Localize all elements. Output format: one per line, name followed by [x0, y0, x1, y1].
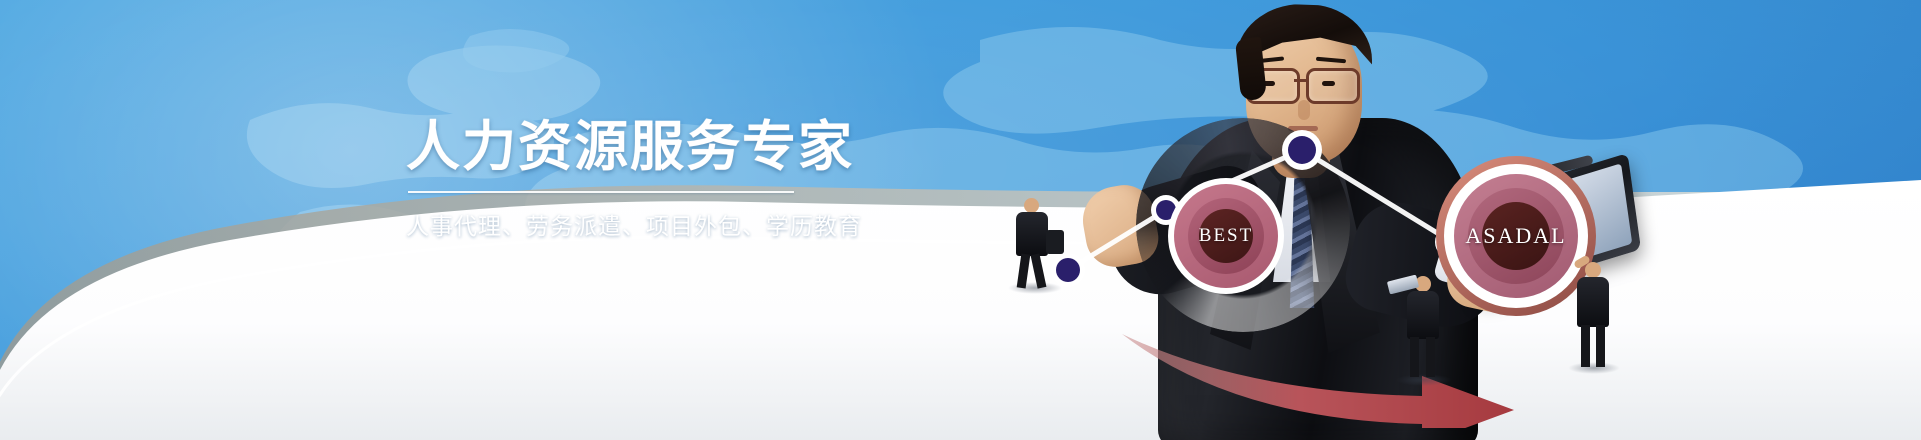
figure-leg-left: [1410, 337, 1419, 377]
mini-figure-presenter: [1396, 276, 1452, 386]
figure-leg-right: [1426, 337, 1435, 377]
figure-body: [1407, 291, 1439, 339]
page-subtitle: 人事代理、劳务派遣、项目外包、学历教育: [406, 207, 806, 241]
glasses-bridge: [1294, 79, 1308, 82]
figure-shadow: [1396, 374, 1452, 386]
eye-right: [1322, 81, 1335, 86]
figure-head: [1585, 262, 1601, 278]
hero-banner: 人力资源服务专家 人事代理、劳务派遣、项目外包、学历教育: [0, 0, 1921, 440]
page-title: 人力资源服务专家: [406, 118, 806, 175]
figure-body: [1577, 277, 1609, 327]
mini-figure-walker: [1006, 196, 1064, 292]
mini-figure-watcher: [1568, 262, 1620, 374]
copy-block: 人力资源服务专家 人事代理、劳务派遣、项目外包、学历教育: [406, 118, 806, 241]
briefcase-icon: [1046, 230, 1064, 254]
figure-head: [1024, 198, 1039, 213]
red-arrow-icon: [1118, 318, 1548, 428]
title-divider: [408, 191, 794, 193]
badge-best-label: BEST: [1199, 225, 1253, 247]
figure-leg-right: [1596, 325, 1605, 367]
badge-best[interactable]: BEST: [1168, 178, 1284, 294]
badge-asadal-label: ASADAL: [1465, 223, 1566, 249]
figure-leg-left: [1581, 325, 1590, 367]
figure-shadow: [1568, 362, 1620, 374]
figure-body: [1016, 212, 1048, 256]
curved-stage-graphic: [0, 140, 1921, 440]
